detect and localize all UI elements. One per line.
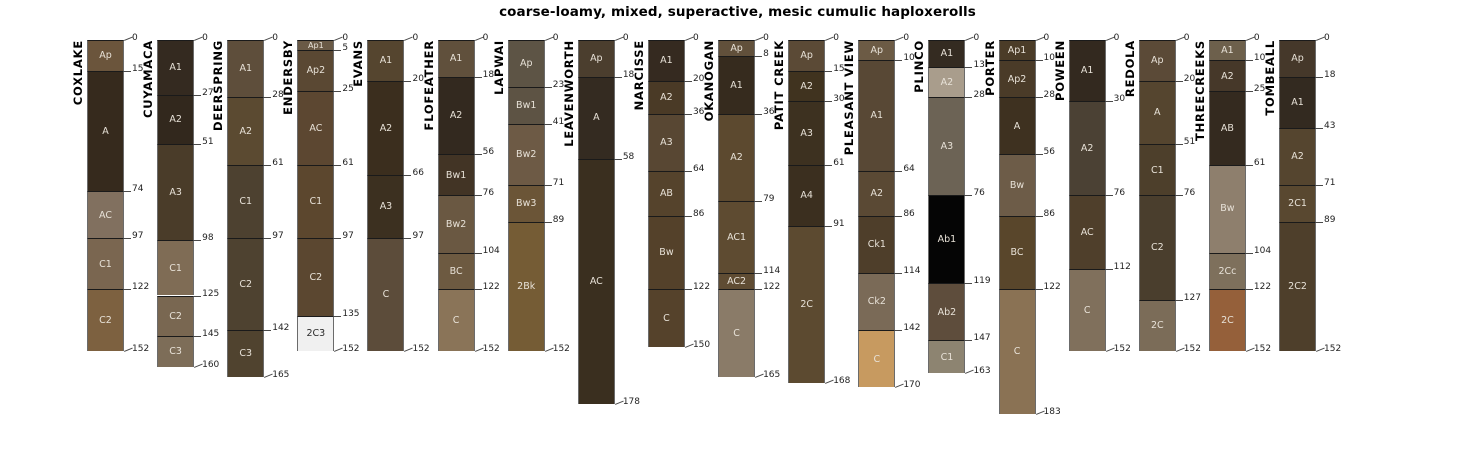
depth-tick-label: 56 [1044,148,1055,157]
soil-horizon[interactable]: A2 [858,171,895,216]
soil-horizon[interactable]: A1 [227,40,264,97]
soil-horizon[interactable]: A2 [157,95,194,144]
horizon-label: Ap [590,54,603,64]
horizon-label: C2 [99,316,112,326]
soil-horizon[interactable]: C1 [297,165,334,239]
depth-tick-line [194,336,201,337]
horizon-label: A1 [660,56,673,66]
depth-tick-line [685,216,692,217]
soil-horizon[interactable]: AB [1209,91,1246,165]
horizon-label: C2 [1151,243,1164,253]
depth-tick-label: 152 [483,345,500,354]
horizon-label: A [593,113,600,123]
soil-horizon[interactable]: Ap1 [297,40,334,50]
depth-tick-label: 0 [763,34,769,43]
profile-name-label: POWEEN [1053,40,1067,101]
horizon-label: Bw1 [446,171,466,181]
depth-tick-label: 0 [623,34,629,43]
depth-tick-line [475,154,482,155]
horizon-label: A2 [169,115,182,125]
horizon-label: C3 [169,347,182,357]
soil-horizon[interactable]: A2 [648,81,685,114]
soil-horizon[interactable]: Ap [508,40,545,87]
depth-tick-line [194,296,201,297]
soil-horizon[interactable]: Ab2 [928,283,965,340]
profile-name-label: OKANOGAN [702,40,716,121]
profile-name-label: LAPWAI [492,40,506,95]
soil-horizon[interactable]: Bw [999,154,1036,215]
depth-tick-line [264,165,271,166]
horizon-label: AC [309,124,322,134]
horizon-label: C2 [169,312,182,322]
soil-horizon[interactable]: 2Bk [508,222,545,351]
depth-tick-label: 0 [1324,34,1330,43]
horizon-label: C [383,290,390,300]
soil-horizon[interactable]: 2Cc [1209,253,1246,290]
depth-tick-label: 89 [553,216,564,225]
depth-tick-line [545,185,552,186]
horizon-label: C [1084,306,1091,316]
horizon-label: Ap [99,51,112,61]
soil-horizon[interactable]: Ck1 [858,216,895,273]
profile-name-label: LEAVENWORTH [562,40,576,147]
horizon-label: Ck2 [868,297,886,307]
soil-horizon[interactable]: AB [648,171,685,216]
depth-tick-label: 0 [833,34,839,43]
depth-tick-label: 122 [483,283,500,292]
depth-tick-line [475,289,482,290]
horizon-label: C1 [1151,166,1164,176]
depth-tick-label: 127 [1184,294,1201,303]
depth-tick-line [1036,216,1043,217]
soil-horizon[interactable]: A2 [788,71,825,102]
soil-horizon[interactable]: Ap [1139,40,1176,81]
soil-horizon[interactable]: A1 [858,60,895,170]
horizon-label: C [1014,347,1021,357]
depth-tick-label: 165 [763,371,780,380]
soil-horizon[interactable]: A [87,71,124,192]
soil-horizon[interactable]: A2 [1209,60,1246,91]
depth-tick-line [895,216,902,217]
horizon-label: A3 [941,142,954,152]
horizon-label: A1 [450,54,463,64]
soil-horizon[interactable]: C2 [297,238,334,316]
soil-horizon[interactable]: C1 [157,240,194,295]
depth-tick-line [404,175,411,176]
depth-tick-line [1246,253,1253,254]
soil-horizon[interactable]: Ap [578,40,615,77]
soil-horizon[interactable]: C2 [157,296,194,337]
soil-horizon[interactable]: Ap [718,40,755,56]
depth-tick-label: 152 [342,345,359,354]
depth-tick-line [124,191,131,192]
horizon-label: Bw2 [516,150,536,160]
profile-name-label: NARCISSE [632,40,646,110]
soil-horizon[interactable]: AC [1069,195,1106,269]
depth-tick-line [124,289,131,290]
depth-tick-line [1246,165,1253,166]
horizon-label: C [873,355,880,365]
depth-tick-label: 61 [833,159,844,168]
depth-tick-label: 76 [483,189,494,198]
soil-horizon[interactable]: Bw [1209,165,1246,253]
horizon-label: Ap1 [308,42,324,50]
horizon-label: C2 [310,273,323,283]
soil-horizon[interactable]: Bw1 [438,154,475,195]
depth-tick-label: 145 [202,330,219,339]
horizon-label: AC2 [727,277,746,287]
soil-horizon[interactable]: C1 [87,238,124,289]
soil-horizon[interactable]: A2 [1069,101,1106,195]
depth-tick-line [475,195,482,196]
soil-horizon[interactable]: Bw2 [438,195,475,252]
profile-name-label: DEERSPRING [211,40,225,131]
depth-tick-line [194,144,201,145]
horizon-label: A1 [871,111,884,121]
depth-tick-line [1036,60,1043,61]
horizon-label: A [1154,108,1161,118]
soil-horizon[interactable]: A3 [648,114,685,171]
horizon-label: 2C3 [306,329,325,339]
horizon-label: A3 [380,202,393,212]
soil-horizon[interactable]: 2C [1139,300,1176,351]
soil-horizon[interactable]: 2C [1209,289,1246,350]
horizon-label: A1 [730,81,743,91]
depth-tick-line [825,165,832,166]
depth-tick-line [334,91,341,92]
soil-horizon[interactable]: A1 [928,40,965,67]
depth-tick-line [895,330,902,331]
soil-horizon[interactable]: C [438,289,475,350]
soil-horizon[interactable]: AC [578,159,615,404]
soil-horizon[interactable]: Ap [87,40,124,71]
depth-tick-line [1176,300,1183,301]
soil-horizon[interactable]: A2 [438,77,475,155]
profile-name-label: THREECREEKS [1193,40,1207,141]
profile-name-label: CUYAMACA [141,40,155,118]
soil-horizon[interactable]: A1 [157,40,194,95]
soil-horizon[interactable]: Ap [788,40,825,71]
horizon-label: A1 [1081,66,1094,76]
depth-tick-label: 160 [202,361,219,370]
soil-horizon[interactable]: A [1139,81,1176,144]
soil-horizon[interactable]: AC1 [718,201,755,273]
depth-tick-label: 104 [483,247,500,256]
depth-tick-label: 76 [1184,189,1195,198]
horizon-label: 2C [1221,316,1234,326]
horizon-label: C [733,329,740,339]
soil-horizon[interactable]: 2C2 [1279,222,1316,351]
depth-tick-label: 0 [483,34,489,43]
depth-tick-label: 0 [132,34,138,43]
soil-horizon[interactable]: C [1069,269,1106,351]
depth-tick-line [965,340,972,341]
soil-horizon[interactable]: Ap [1279,40,1316,77]
depth-tick-label: 86 [693,210,704,219]
soil-horizon[interactable]: Ap2 [999,60,1036,97]
depth-tick-label: 64 [693,165,704,174]
horizon-label: Ap [1151,56,1164,66]
profile-name-label: COXLAKE [71,40,85,105]
depth-tick-line [685,171,692,172]
depth-tick-label: 51 [202,138,213,147]
depth-tick-line [124,238,131,239]
soil-horizon[interactable]: 2C1 [1279,185,1316,222]
profile-name-label: PATIT CREEK [772,40,786,130]
horizon-label: AC1 [727,233,746,243]
depth-tick-line [685,114,692,115]
soil-horizon[interactable]: A1 [648,40,685,81]
depth-tick-label: 5 [342,44,348,53]
depth-tick-line [825,101,832,102]
depth-tick-label: 152 [1254,345,1271,354]
depth-tick-label: 135 [342,310,359,319]
horizon-label: A1 [1291,98,1304,108]
horizon-label: Bw3 [516,199,536,209]
horizon-label: C1 [310,197,323,207]
horizon-label: C3 [239,349,252,359]
soil-horizon[interactable]: C [718,289,755,377]
depth-tick-label: 61 [1254,159,1265,168]
depth-tick-line [895,273,902,274]
profile-name-label: TOMBEALL [1263,40,1277,116]
depth-tick-label: 0 [342,34,348,43]
horizon-label: A2 [660,93,673,103]
depth-tick-line [404,81,411,82]
profile-name-label: PORTER [983,40,997,96]
soil-horizon[interactable]: C1 [227,165,264,239]
depth-tick-label: 152 [553,345,570,354]
soil-horizon[interactable]: Bw3 [508,185,545,222]
depth-tick-line [1106,101,1113,102]
soil-horizon[interactable]: C1 [1139,144,1176,195]
horizon-label: AB [1221,124,1234,134]
depth-tick-label: 152 [1114,345,1131,354]
horizon-label: Ap2 [1008,75,1027,85]
depth-tick-line [475,77,482,78]
depth-tick-label: 104 [1254,247,1271,256]
depth-tick-line [755,114,762,115]
depth-tick-line [1246,60,1253,61]
depth-tick-label: 61 [272,159,283,168]
soil-horizon[interactable]: A2 [1279,128,1316,185]
depth-tick-line [615,77,622,78]
horizon-label: Ap [520,59,533,69]
horizon-label: A2 [941,78,954,88]
depth-tick-line [1106,269,1113,270]
soil-horizon[interactable]: C [367,238,404,350]
depth-tick-label: 79 [763,195,774,204]
depth-tick-label: 170 [903,381,920,390]
soil-horizon[interactable]: C [648,289,685,346]
soil-horizon[interactable]: A2 [227,97,264,164]
soil-horizon[interactable]: A3 [157,144,194,240]
soil-horizon[interactable]: Bw1 [508,87,545,124]
horizon-label: A2 [800,82,813,92]
depth-tick-line [755,201,762,202]
soil-horizon[interactable]: 2C3 [297,316,334,351]
soil-horizon[interactable]: AC2 [718,273,755,289]
depth-tick-label: 71 [553,179,564,188]
depth-tick-line [1176,195,1183,196]
soil-horizon[interactable]: C2 [1139,195,1176,299]
depth-tick-line [334,238,341,239]
horizon-label: Bw [1010,181,1024,191]
depth-tick-label: 178 [623,398,640,407]
soil-horizon[interactable]: A [578,77,615,159]
depth-tick-line [755,289,762,290]
depth-tick-line [404,238,411,239]
soil-horizon[interactable]: C3 [227,330,264,377]
soil-horizon[interactable]: A1 [367,40,404,81]
depth-tick-label: 122 [693,283,710,292]
depth-tick-line [755,273,762,274]
soil-horizon[interactable]: A2 [367,81,404,175]
depth-tick-line [965,97,972,98]
depth-tick-label: 18 [1324,71,1335,80]
soil-horizon[interactable]: BC [438,253,475,290]
soil-horizon[interactable]: BC [999,216,1036,290]
depth-tick-line [965,195,972,196]
page-title: coarse-loamy, mixed, superactive, mesic … [0,4,1475,20]
soil-horizon[interactable]: A4 [788,165,825,226]
depth-tick-line [264,330,271,331]
profile-name-label: PLINCO [912,40,926,93]
depth-tick-label: 125 [202,290,219,299]
depth-tick-line [334,316,341,317]
depth-tick-line [1176,144,1183,145]
soil-horizon[interactable]: C1 [928,340,965,373]
horizon-label: A2 [1081,144,1094,154]
depth-tick-label: 86 [1044,210,1055,219]
horizon-label: Ap1 [1008,46,1027,56]
soil-horizon[interactable]: A1 [1279,77,1316,128]
depth-tick-label: 0 [272,34,278,43]
depth-tick-line [264,97,271,98]
horizon-label: 2C2 [1288,282,1307,292]
horizon-label: C1 [169,264,182,274]
depth-tick-label: 150 [693,341,710,350]
soil-horizon[interactable]: C [999,289,1036,414]
soil-horizon[interactable]: A2 [928,67,965,98]
depth-tick-line [545,124,552,125]
depth-tick-line [334,165,341,166]
horizon-label: A1 [239,64,252,74]
depth-tick-label: 91 [833,220,844,229]
horizon-label: C1 [239,197,252,207]
depth-tick-label: 142 [903,324,920,333]
depth-tick-label: 114 [903,267,920,276]
depth-tick-label: 152 [412,345,429,354]
soil-horizon[interactable]: A [999,97,1036,154]
soil-horizon[interactable]: C2 [87,289,124,350]
horizon-label: Ck1 [868,240,886,250]
soil-horizon[interactable]: A1 [718,56,755,113]
depth-tick-line [895,171,902,172]
depth-tick-line [1036,154,1043,155]
soil-horizon[interactable]: A1 [438,40,475,77]
depth-tick-label: 66 [412,169,423,178]
soil-horizon[interactable]: Ap1 [999,40,1036,60]
horizon-label: A2 [730,153,743,163]
depth-tick-line [194,95,201,96]
soil-horizon[interactable]: Bw [648,216,685,290]
horizon-label: AB [660,189,673,199]
depth-tick-line [825,71,832,72]
soil-horizon[interactable]: C2 [227,238,264,330]
soil-horizon[interactable]: Ap2 [297,50,334,91]
depth-tick-line [334,50,341,51]
depth-tick-label: 98 [202,234,213,243]
horizon-label: A2 [1291,152,1304,162]
horizon-label: A2 [871,189,884,199]
depth-tick-label: 76 [1114,189,1125,198]
soil-horizon[interactable]: A2 [718,114,755,202]
depth-tick-label: 152 [1184,345,1201,354]
horizon-label: 2Bk [517,282,535,292]
horizon-label: A2 [1221,72,1234,82]
horizon-label: C1 [99,260,112,270]
horizon-label: AC [590,277,603,287]
soil-horizon[interactable]: A3 [788,101,825,164]
depth-tick-line [475,253,482,254]
soil-horizon[interactable]: C3 [157,336,194,367]
horizon-label: Bw1 [516,101,536,111]
depth-tick-label: 168 [833,377,850,386]
depth-tick-line [545,87,552,88]
horizon-label: A2 [450,111,463,121]
profile-name-label: ENDERSBY [281,40,295,115]
horizon-label: A2 [239,127,252,137]
depth-tick-line [825,226,832,227]
depth-tick-label: 119 [973,277,990,286]
soil-horizon[interactable]: AC [87,191,124,238]
soil-horizon[interactable]: A1 [1209,40,1246,60]
depth-tick-label: 147 [973,334,990,343]
depth-tick-label: 112 [1114,263,1131,272]
horizon-label: Bw [659,248,673,258]
depth-tick-label: 97 [272,232,283,241]
horizon-label: 2C1 [1288,199,1307,209]
soil-horizon[interactable]: Ab1 [928,195,965,283]
soil-horizon[interactable]: Ck2 [858,273,895,330]
depth-tick-line [1316,77,1323,78]
soil-horizon[interactable]: AC [297,91,334,165]
soil-horizon[interactable]: Bw2 [508,124,545,185]
horizon-label: A [102,127,109,137]
depth-tick-label: 0 [1184,34,1190,43]
depth-tick-line [895,60,902,61]
depth-tick-label: 0 [903,34,909,43]
horizon-label: BC [450,267,463,277]
horizon-label: A1 [941,49,954,59]
soil-horizon[interactable]: Ap [858,40,895,60]
horizon-label: BC [1011,248,1024,258]
horizon-label: Bw [1220,204,1234,214]
depth-tick-line [264,238,271,239]
depth-tick-line [124,71,131,72]
depth-tick-line [1316,185,1323,186]
depth-tick-label: 56 [483,148,494,157]
soil-horizon[interactable]: A3 [367,175,404,238]
depth-tick-label: 64 [903,165,914,174]
soil-horizon[interactable]: C [858,330,895,387]
profile-name-label: REDOLA [1123,40,1137,97]
soil-horizon[interactable]: 2C [788,226,825,383]
soil-horizon[interactable]: A3 [928,97,965,195]
horizon-label: A1 [1221,46,1234,56]
soil-horizon[interactable]: A1 [1069,40,1106,101]
